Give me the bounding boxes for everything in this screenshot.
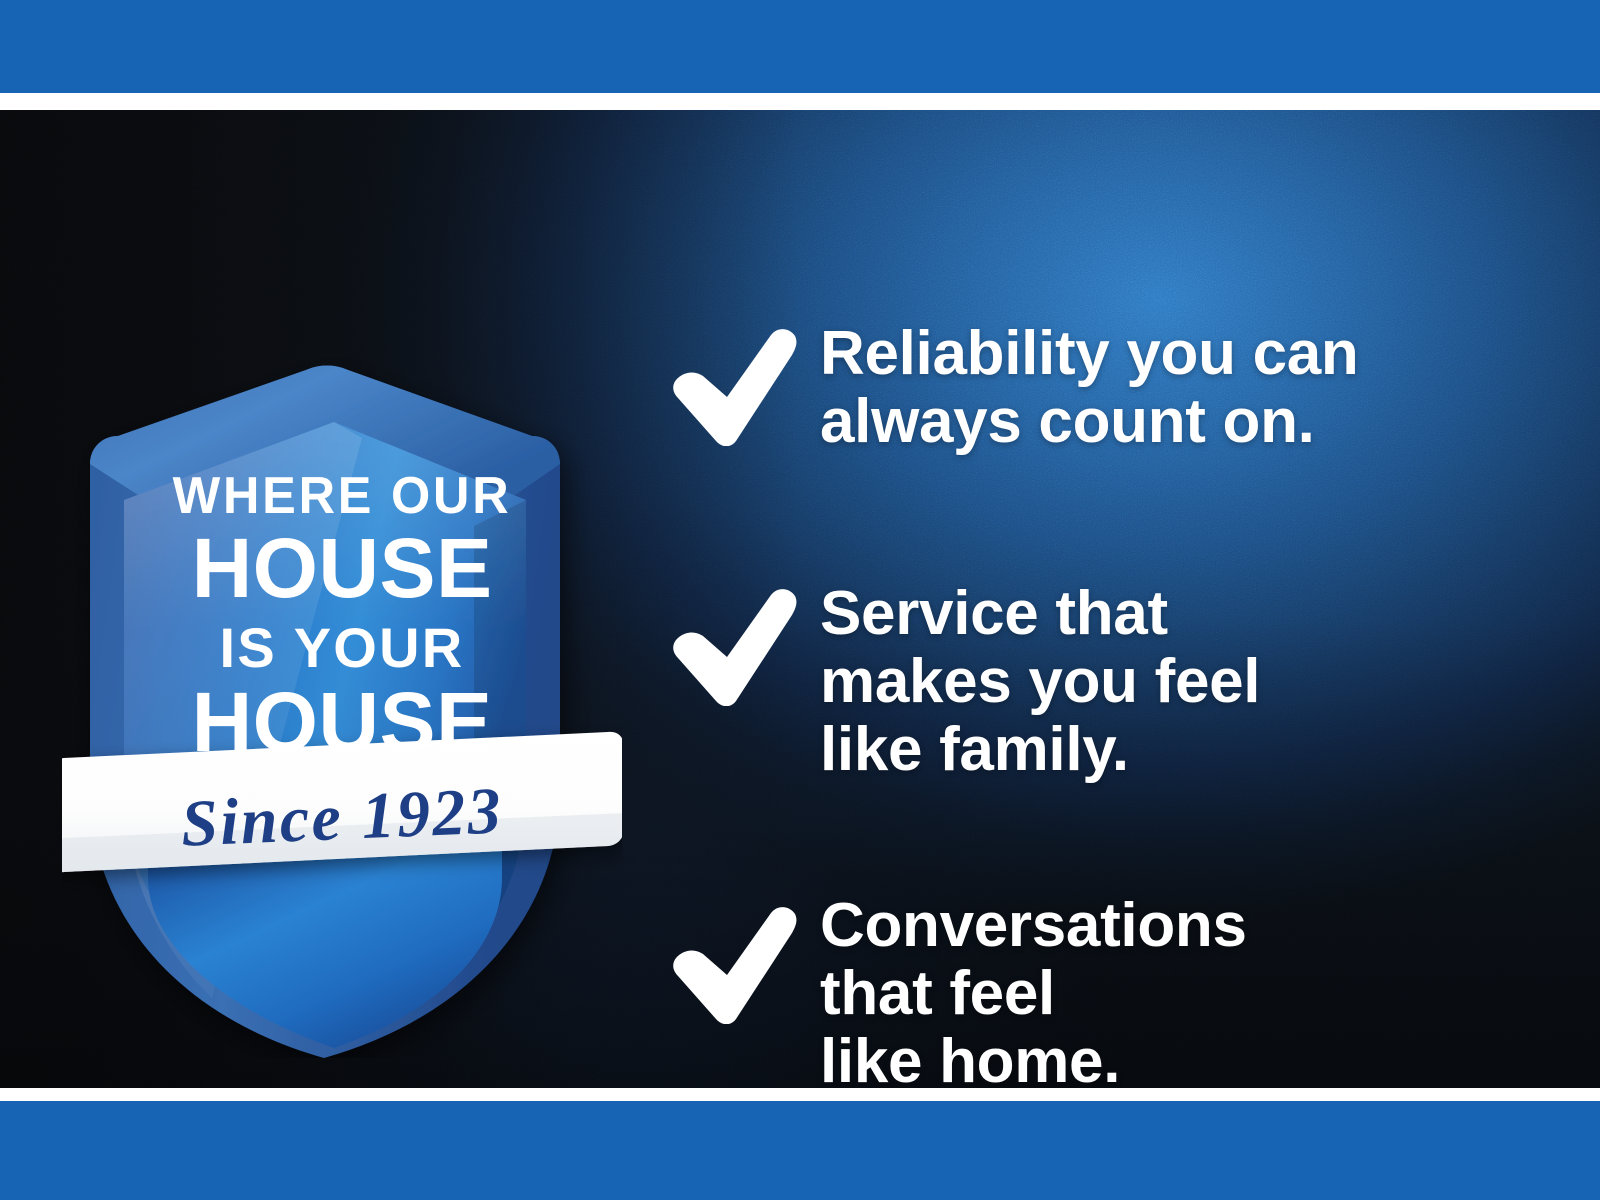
shield-badge: WHERE OUR HOUSE IS YOUR HOUSE Since 1923 — [62, 358, 622, 1058]
shield-graphic — [62, 358, 622, 1058]
promo-graphic: WHERE OUR HOUSE IS YOUR HOUSE Since 1923… — [0, 0, 1600, 1200]
check-icon — [670, 892, 820, 1029]
list-item-text: Reliability you can always count on. — [820, 320, 1359, 456]
top-blue-bar — [0, 0, 1600, 93]
check-icon — [670, 580, 820, 711]
benefits-list: Reliability you can always count on. Ser… — [660, 220, 1560, 1088]
list-item: Service that makes you feel like family. — [670, 580, 1260, 785]
bottom-blue-bar — [0, 1101, 1600, 1200]
list-item: Conversations that feel like home. — [670, 892, 1247, 1088]
top-white-divider — [0, 93, 1600, 110]
list-item-text: Conversations that feel like home. — [820, 892, 1247, 1088]
list-item: Reliability you can always count on. — [670, 320, 1359, 456]
list-item-text: Service that makes you feel like family. — [820, 580, 1260, 785]
bottom-white-divider — [0, 1088, 1600, 1101]
content-stage: WHERE OUR HOUSE IS YOUR HOUSE Since 1923… — [0, 110, 1600, 1088]
check-icon — [670, 320, 820, 451]
